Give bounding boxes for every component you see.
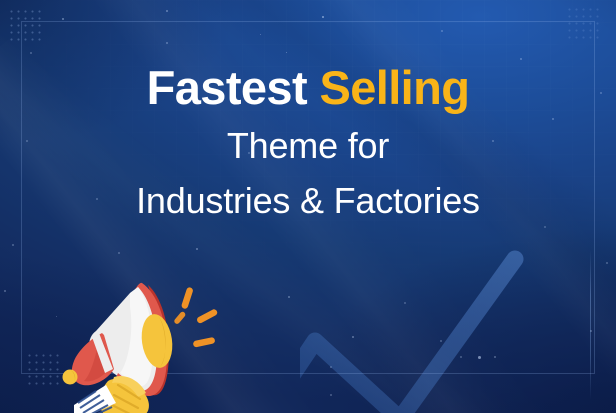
headline-line-1: Fastest Selling [0, 60, 616, 116]
dot-grid-accent-top-left [8, 8, 42, 42]
vertical-accent-line [590, 250, 591, 400]
headline-line-1-plain: Fastest [147, 61, 320, 114]
headline-line-3: Industries & Factories [0, 173, 616, 228]
promo-banner: Fastest Selling Theme for Industries & F… [0, 0, 616, 413]
dot-grid-accent-bottom-left [26, 352, 60, 386]
headline-block: Fastest Selling Theme for Industries & F… [0, 60, 616, 228]
headline-line-2: Theme for [0, 118, 616, 173]
headline-line-1-accent: Selling [319, 61, 469, 114]
dot-grid-accent-top-right [566, 6, 600, 40]
